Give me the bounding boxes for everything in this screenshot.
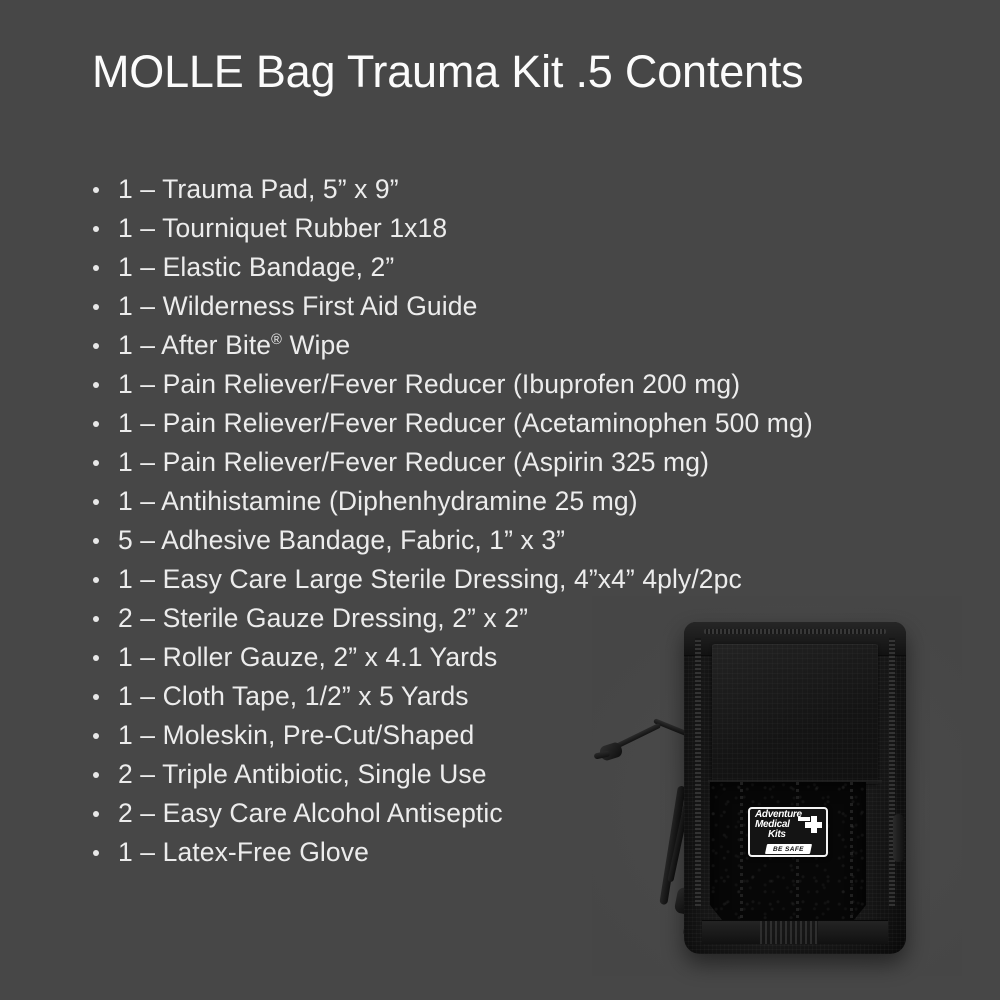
bullet-icon [93,772,99,778]
bullet-icon [93,616,99,622]
registered-trademark-symbol: ® [271,332,282,348]
list-item-label: 1 – Easy Care Large Sterile Dressing, 4”… [118,564,742,594]
list-item-label: 2 – Easy Care Alcohol Antiseptic [118,798,503,828]
list-item-label: 1 – Cloth Tape, 1/2” x 5 Yards [118,681,469,711]
brand-wordmark: Adventure Medical Kits [750,810,826,840]
cross-arrow-icon [798,817,810,821]
list-item: 1 – Antihistamine (Diphenhydramine 25 mg… [92,482,962,521]
bullet-icon [93,499,99,505]
list-item-label-pre: 1 – After Bite [118,330,271,360]
bullet-icon [93,382,99,388]
brand-tagline: BE SAFE [764,844,811,854]
list-item: 1 – After Bite® Wipe [92,326,962,365]
list-item: 1 – Pain Reliever/Fever Reducer (Acetami… [92,404,962,443]
list-item-label: 1 – Elastic Bandage, 2” [118,252,394,282]
list-item: 1 – Tourniquet Rubber 1x18 [92,209,962,248]
list-item-label: 1 – Moleskin, Pre-Cut/Shaped [118,720,474,750]
product-photo: Adventure Medical Kits BE SAFE [592,596,962,976]
molle-stitch [796,782,799,932]
bullet-icon [93,577,99,583]
bottom-webbing-strap [702,920,888,944]
bullet-icon [93,421,99,427]
list-item-label: 1 – Wilderness First Aid Guide [118,291,477,321]
list-item: 5 – Adhesive Bandage, Fabric, 1” x 3” [92,521,962,560]
list-item-label: 1 – Roller Gauze, 2” x 4.1 Yards [118,642,497,672]
list-item-label: 2 – Triple Antibiotic, Single Use [118,759,487,789]
loop-velcro-field [710,782,866,932]
page-title: MOLLE Bag Trauma Kit .5 Contents [92,46,803,98]
list-item: 1 – Wilderness First Aid Guide [92,287,962,326]
brand-line-3: Kits [768,830,786,840]
zipper-left [695,638,701,906]
list-item-label: 5 – Adhesive Bandage, Fabric, 1” x 3” [118,525,565,555]
bullet-icon [93,538,99,544]
bullet-icon [93,733,99,739]
list-item: 1 – Elastic Bandage, 2” [92,248,962,287]
list-item-label-post: Wipe [282,330,350,360]
bullet-icon [93,694,99,700]
bullet-icon [93,265,99,271]
list-item: 1 – Easy Care Large Sterile Dressing, 4”… [92,560,962,599]
molle-stitch [850,782,853,932]
brand-patch: Adventure Medical Kits BE SAFE [748,807,828,857]
contents-page: MOLLE Bag Trauma Kit .5 Contents 1 – Tra… [0,0,1000,1000]
zipper-icon [704,629,886,634]
list-item-label: 1 – Tourniquet Rubber 1x18 [118,213,447,243]
list-item: 1 – Pain Reliever/Fever Reducer (Aspirin… [92,443,962,482]
list-item-label: 1 – Latex-Free Glove [118,837,369,867]
list-item: 1 – Pain Reliever/Fever Reducer (Ibuprof… [92,365,962,404]
side-pull-tab [893,814,904,862]
bullet-icon [93,460,99,466]
molle-bag: Adventure Medical Kits BE SAFE [684,622,906,954]
molle-stitch [740,782,743,932]
bullet-icon [93,343,99,349]
bullet-icon [93,850,99,856]
bullet-icon [93,811,99,817]
bullet-icon [93,655,99,661]
bullet-icon [93,226,99,232]
list-item-label: 1 – Trauma Pad, 5” x 9” [118,174,399,204]
zipper-right [889,638,895,906]
list-item-label: 1 – Pain Reliever/Fever Reducer (Aspirin… [118,447,709,477]
list-item-label: 1 – Antihistamine (Diphenhydramine 25 mg… [118,486,638,516]
bullet-icon [93,187,99,193]
bullet-icon [93,304,99,310]
list-item-label: 1 – Pain Reliever/Fever Reducer (Ibuprof… [118,369,740,399]
list-item-label: 1 – Pain Reliever/Fever Reducer (Acetami… [118,408,813,438]
list-item: 1 – Trauma Pad, 5” x 9” [92,170,962,209]
list-item-label: 2 – Sterile Gauze Dressing, 2” x 2” [118,603,528,633]
front-panel [712,644,878,784]
